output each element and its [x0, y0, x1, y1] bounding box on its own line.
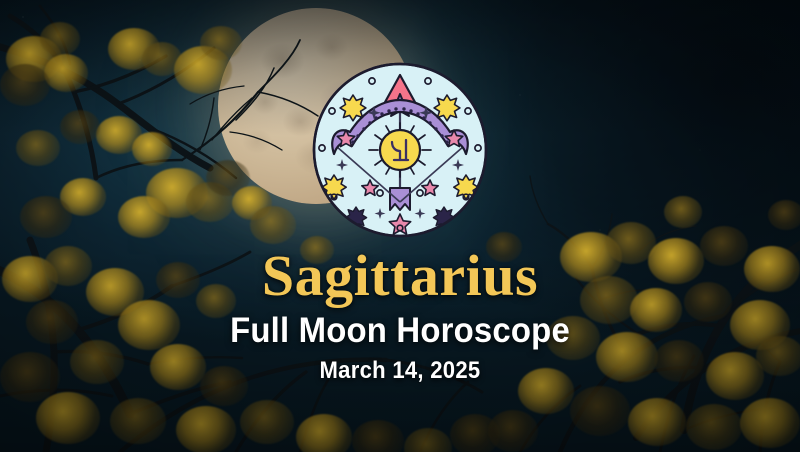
sagittarius-zodiac-emblem: [312, 62, 488, 238]
subtitle: Full Moon Horoscope: [24, 311, 776, 350]
arrow-fletching: [390, 188, 410, 210]
date-label: March 14, 2025: [32, 357, 768, 386]
poster-text-block: Sagittarius Full Moon Horoscope March 14…: [0, 246, 800, 386]
horoscope-poster: Sagittarius Full Moon Horoscope March 14…: [0, 0, 800, 452]
page-title: Sagittarius: [0, 246, 800, 307]
